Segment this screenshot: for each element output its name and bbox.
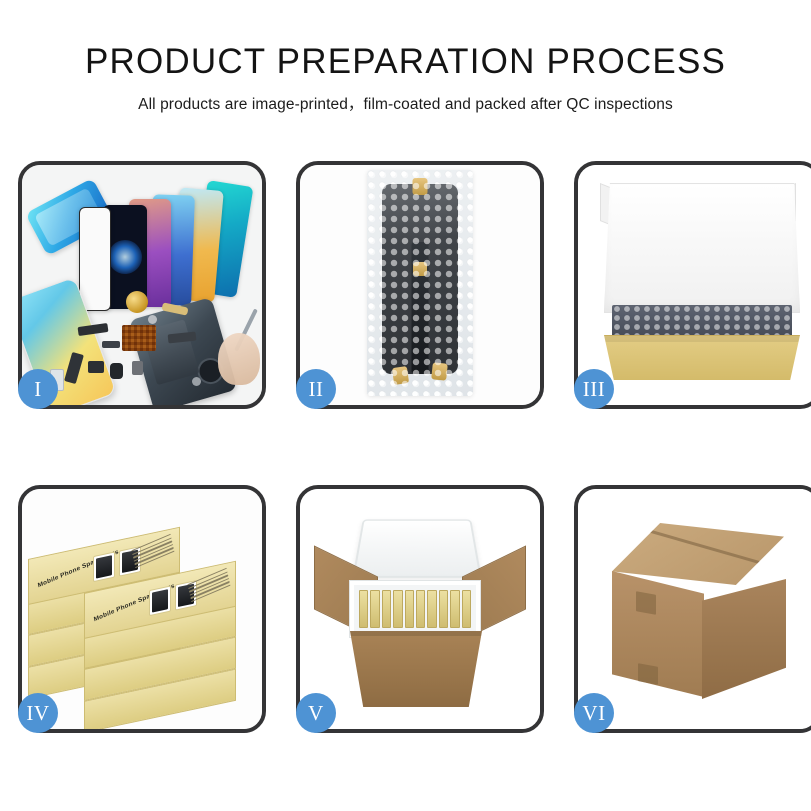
foam-box-base — [350, 581, 480, 637]
step-badge-3: III — [574, 369, 614, 409]
box-window-1 — [149, 586, 171, 617]
box-window-1 — [93, 552, 115, 583]
process-step-2: II — [296, 161, 544, 409]
gold-connector-1 — [413, 178, 428, 195]
small-part-5 — [148, 315, 157, 324]
carton-tape-upper — [636, 591, 656, 615]
small-part-2 — [110, 363, 123, 379]
product-preparation-page: PRODUCT PREPARATION PROCESS All products… — [0, 0, 811, 811]
copper-grid-part — [122, 325, 156, 351]
kraft-boxes-inside — [359, 590, 471, 628]
process-step-6: VI — [574, 485, 811, 733]
process-steps-grid: I II — [18, 161, 811, 733]
small-part-7 — [192, 377, 201, 386]
page-subtitle: All products are image-printed，film-coat… — [0, 92, 811, 114]
gold-connector-3 — [392, 366, 409, 385]
sealed-carton-image — [578, 489, 811, 729]
process-step-5: V — [296, 485, 544, 733]
stacked-kraft-boxes-image: Mobile Phone Spare Parts — [22, 489, 262, 729]
step-badge-5: V — [296, 693, 336, 733]
process-step-1: I — [18, 161, 266, 409]
gold-connector-2 — [413, 262, 427, 276]
bubble-wrap-padding — [612, 305, 792, 337]
kraft-box-base — [604, 335, 800, 380]
carton-with-foam-box-image — [300, 489, 540, 729]
carton-tape-lower — [638, 663, 658, 685]
gold-coil-part — [126, 291, 148, 313]
step-badge-1: I — [18, 369, 58, 409]
bubble-wrapped-screen-image — [300, 165, 540, 405]
page-title: PRODUCT PREPARATION PROCESS — [0, 44, 811, 81]
page-header: PRODUCT PREPARATION PROCESS All products… — [0, 0, 811, 114]
phone-glass-panel — [79, 207, 111, 311]
carton-front-face — [612, 571, 704, 697]
phone-parts-collage-image — [22, 165, 262, 405]
process-step-3: III — [574, 161, 811, 409]
small-part-6 — [102, 341, 120, 348]
phone-screen-fan — [95, 185, 255, 301]
step-badge-2: II — [296, 369, 336, 409]
box-spec-lines — [131, 534, 174, 569]
open-kraft-box-image — [578, 165, 811, 405]
step-badge-6: VI — [574, 693, 614, 733]
gold-connector-4 — [431, 362, 448, 380]
small-part-3 — [132, 361, 143, 375]
white-box-lid — [604, 183, 800, 313]
box-stack: Mobile Phone Spare Parts — [22, 489, 262, 729]
hand — [218, 333, 260, 385]
shipping-carton-body — [350, 631, 482, 707]
box-spec-lines — [187, 568, 230, 603]
carton-top-face — [612, 523, 784, 585]
step-badge-4: IV — [18, 693, 58, 733]
process-step-4: Mobile Phone Spare Parts — [18, 485, 266, 733]
carton-side-face — [702, 579, 786, 699]
small-part-1 — [88, 361, 104, 373]
foam-box-lid — [352, 519, 482, 577]
bubble-wrap-pouch — [367, 170, 473, 396]
